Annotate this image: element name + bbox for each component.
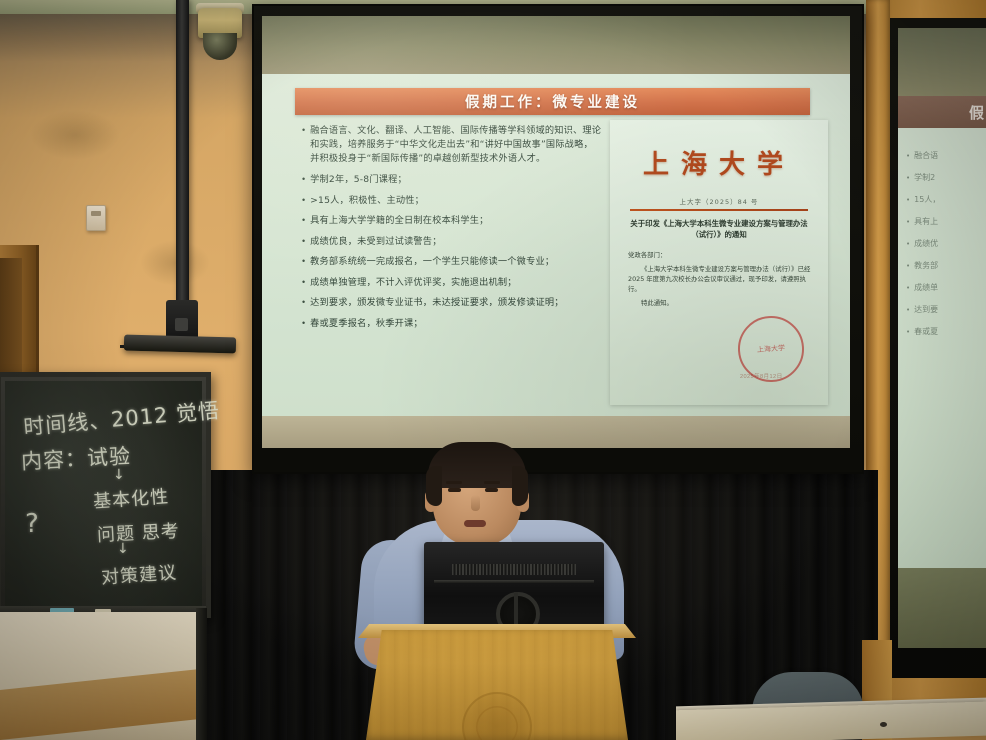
chalk-line: 问题 思考 — [96, 517, 180, 547]
secondary-slide-bullet: •成绩优 — [906, 238, 986, 250]
monitor-ridge — [434, 580, 594, 583]
bullet-dot-icon: • — [302, 214, 305, 227]
document-paragraph: 《上海大学本科生微专业建设方案与管理办法（试行）》已经 2025 年度第九次校长… — [628, 264, 812, 294]
slide-bullet: •学制2年，5-8门课程； — [302, 173, 602, 187]
bullet-dot-icon: • — [906, 216, 910, 228]
slide-title-bar: 假期工作：微专业建设 — [295, 88, 810, 115]
secondary-slide-bullet: •15人， — [906, 194, 986, 206]
presentation-slide: 假期工作：微专业建设 •融合语言、文化、翻译、人工智能、国际传播等学科领域的知识… — [262, 74, 850, 416]
bullet-dot-icon: • — [302, 317, 305, 330]
monitor-vent — [452, 564, 576, 575]
bullet-dot-icon: • — [302, 235, 305, 248]
secondary-slide-bullet-text: 融合语 — [914, 150, 938, 162]
document-number: 上大字（2025）84 号 — [610, 196, 828, 206]
slide-bullet: •春或夏季报名，秋季开课； — [302, 317, 602, 331]
bullet-dot-icon: • — [906, 260, 910, 272]
secondary-slide-bullet: •教务部 — [906, 260, 986, 272]
projection-screen: 假期工作：微专业建设 •融合语言、文化、翻译、人工智能、国际传播等学科领域的知识… — [262, 16, 850, 448]
secondary-slide-bullet: •学制2 — [906, 172, 986, 184]
speaker-hair-left — [426, 466, 442, 506]
slide-bullet-text: 教务部系统统一完成报名，一个学生只能修读一个微专业； — [310, 255, 554, 269]
slide-bullet-text: >15人，积极性、主动性； — [310, 194, 424, 208]
door-panel — [0, 258, 22, 380]
bullet-dot-icon: • — [302, 276, 305, 289]
speaker-eye-left — [448, 488, 461, 492]
chalk-line: 对策建议 — [100, 558, 178, 589]
podium — [366, 630, 628, 740]
speaker-mouth — [464, 520, 486, 527]
document-university-name: 上海大学 — [610, 144, 828, 181]
secondary-slide-bullet-text: 成绩单 — [914, 282, 938, 294]
slide-bullet: •具有上海大学学籍的全日制在校本科学生； — [302, 214, 602, 228]
speaker-nose — [471, 495, 480, 511]
blackboard-post — [196, 608, 207, 740]
document-divider — [630, 209, 808, 211]
slide-bullet: •达到要求，颁发微专业证书，未达授证要求，颁发修读证明； — [302, 296, 602, 310]
secondary-slide-bullet-text: 达到要 — [914, 304, 938, 316]
speaker-eye-right — [485, 488, 498, 492]
chalk-line: ↓ — [117, 541, 130, 557]
bullet-dot-icon: • — [302, 173, 305, 186]
secondary-slide-bullet-text: 教务部 — [914, 260, 938, 272]
secondary-slide-bullet: •融合语 — [906, 150, 986, 162]
secondary-slide-bullet: •具有上 — [906, 216, 986, 228]
table-object — [880, 722, 887, 727]
bullet-dot-icon: • — [302, 194, 305, 207]
speaker-brow-right — [484, 481, 500, 484]
chalk-line: 基本化性 — [92, 482, 170, 513]
bullet-dot-icon: • — [906, 238, 910, 250]
secondary-slide-title: 假 — [969, 102, 984, 123]
slide-title: 假期工作：微专业建设 — [465, 91, 640, 112]
speaker-hair-right — [512, 466, 528, 506]
slide-bullet-text: 达到要求，颁发微专业证书，未达授证要求，颁发修读证明； — [310, 296, 563, 310]
bullet-dot-icon: • — [906, 326, 910, 338]
document-seal-date: 2025年8月12日 — [740, 372, 783, 380]
bullet-dot-icon: • — [906, 172, 910, 184]
document-salutation: 党政各部门： — [628, 250, 812, 260]
document-heading: 关于印发《上海大学本科生微专业建设方案与管理办法（试行）》的通知 — [624, 218, 814, 240]
screen-top-band — [262, 16, 850, 74]
slide-bullet-text: 成绩单独管理，不计入评优评奖，实施退出机制； — [310, 276, 517, 290]
slide-bullet-text: 学制2年，5-8门课程； — [310, 173, 407, 187]
slide-bullet-list: •融合语言、文化、翻译、人工智能、国际传播等学科领域的知识、理论和实践，培养服务… — [302, 124, 602, 337]
slide-bullet-text: 春或夏季报名，秋季开课； — [310, 317, 423, 331]
bullet-dot-icon: • — [906, 194, 910, 206]
secondary-slide-bullet-text: 春或夏 — [914, 326, 938, 338]
camera-mount-bar — [124, 335, 236, 354]
bullet-dot-icon: • — [302, 255, 305, 268]
bullet-dot-icon: • — [906, 304, 910, 316]
slide-bullet-text: 具有上海大学学籍的全日制在校本科学生； — [310, 214, 488, 228]
secondary-screen-top-band — [898, 28, 986, 96]
slide-bullet: •教务部系统统一完成报名，一个学生只能修读一个微专业； — [302, 255, 602, 269]
secondary-slide-bullet-text: 成绩优 — [914, 238, 938, 250]
document-body: 党政各部门： 《上海大学本科生微专业建设方案与管理办法（试行）》已经 2025 … — [628, 250, 812, 312]
camera-mount-rail — [176, 0, 189, 330]
chalk-line: ↓ — [113, 467, 126, 483]
wall-outlet — [86, 205, 106, 231]
slide-bullet: •成绩优良，未受到过试读警告； — [302, 235, 602, 249]
secondary-slide-bullet-text: 具有上 — [914, 216, 938, 228]
secondary-screen: 假 •融合语•学制2•15人，•具有上•成绩优•教务部•成绩单•达到要•春或夏 — [898, 28, 986, 648]
chalk-line: ? — [25, 509, 40, 539]
document-closing: 特此通知。 — [628, 298, 812, 308]
secondary-slide-bullet: •成绩单 — [906, 282, 986, 294]
secondary-slide-bullet: •春或夏 — [906, 326, 986, 338]
slide-bullet-text: 融合语言、文化、翻译、人工智能、国际传播等学科领域的知识、理论和实践，培养服务于… — [310, 124, 602, 166]
blackboard: 时间线、2012 觉悟内容：试验基本化性问题 思考对策建议?↓↓ — [0, 372, 211, 618]
speaker-brow-left — [446, 481, 462, 484]
secondary-slide-title-bar: 假 — [898, 96, 986, 128]
slide-bullet: •>15人，积极性、主动性； — [302, 194, 602, 208]
document-image: 上海大学 上大字（2025）84 号 关于印发《上海大学本科生微专业建设方案与管… — [610, 120, 828, 405]
slide-bullet-text: 成绩优良，未受到过试读警告； — [310, 235, 441, 249]
secondary-slide-bullet-text: 15人， — [914, 194, 940, 206]
blackboard-surface: 时间线、2012 觉悟内容：试验基本化性问题 思考对策建议?↓↓ — [5, 381, 202, 609]
secondary-slide-bullet-text: 学制2 — [914, 172, 935, 184]
slide-bullet: •融合语言、文化、翻译、人工智能、国际传播等学科领域的知识、理论和实践，培养服务… — [302, 124, 602, 166]
bullet-dot-icon: • — [302, 296, 305, 309]
bullet-dot-icon: • — [906, 150, 910, 162]
secondary-slide-body: •融合语•学制2•15人，•具有上•成绩优•教务部•成绩单•达到要•春或夏 — [898, 128, 986, 568]
bullet-dot-icon: • — [906, 282, 910, 294]
secondary-slide-bullet: •达到要 — [906, 304, 986, 316]
lecture-hall-scene: 假 •融合语•学制2•15人，•具有上•成绩优•教务部•成绩单•达到要•春或夏 … — [0, 0, 986, 740]
slide-bullet: •成绩单独管理，不计入评优评奖，实施退出机制； — [302, 276, 602, 290]
bullet-dot-icon: • — [302, 124, 305, 137]
secondary-screen-bottom-band — [898, 568, 986, 648]
